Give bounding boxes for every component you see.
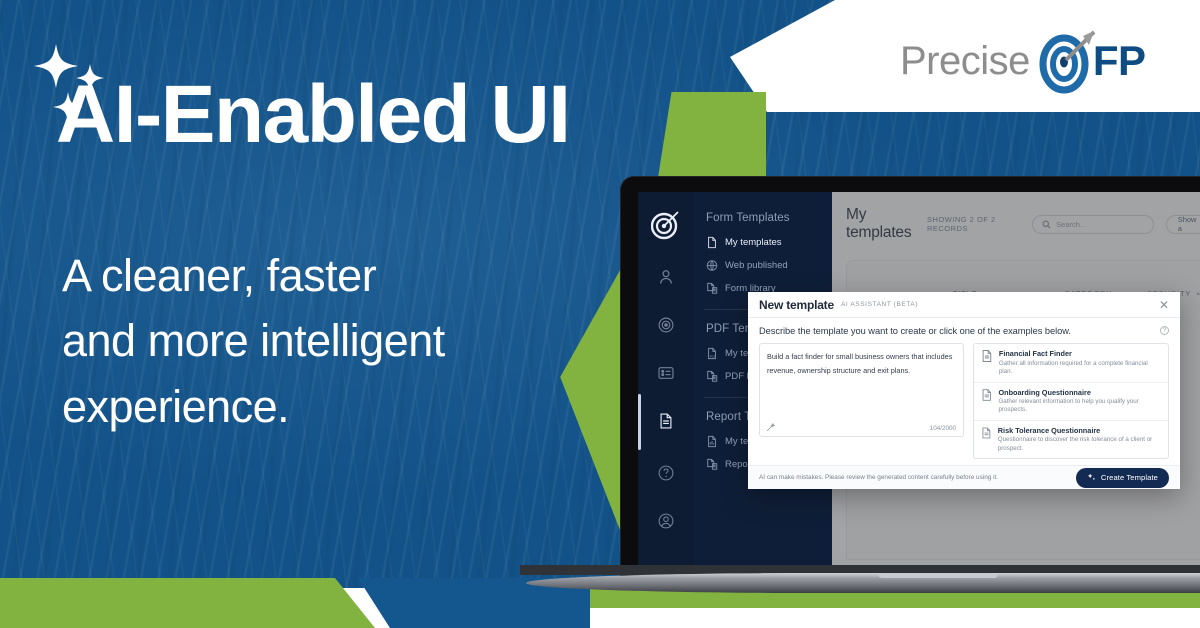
- svg-text:PDF: PDF: [710, 354, 716, 358]
- pdf-stack-icon: [706, 370, 718, 383]
- forms-list-icon[interactable]: [649, 356, 683, 390]
- dialog-columns: Build a fact finder for small business o…: [759, 343, 1169, 459]
- precisefp-logo: Precise FP: [900, 25, 1166, 97]
- account-avatar-icon[interactable]: [649, 504, 683, 538]
- create-template-button[interactable]: Create Template: [1076, 468, 1169, 488]
- help-circle-icon[interactable]: ?: [1160, 326, 1169, 335]
- app-icon-rail: [638, 192, 694, 566]
- logo-text-precise: Precise: [900, 39, 1030, 84]
- nav-group-title-form-templates: Form Templates: [694, 206, 832, 231]
- document-icon: [981, 349, 993, 363]
- sidebar-label: Web published: [725, 260, 788, 271]
- textarea-footer: 104/2000: [766, 423, 956, 432]
- template-description-textarea[interactable]: Build a fact finder for small business o…: [759, 343, 964, 437]
- sidebar-item-web-published[interactable]: Web published: [694, 254, 832, 277]
- dialog-subtitle: AI ASSISTANT (BETA): [841, 301, 918, 308]
- example-description: Questionnaire to discover the risk toler…: [998, 436, 1161, 453]
- icon-rail-bottom: [649, 456, 683, 566]
- example-title: Financial Fact Finder: [999, 349, 1161, 358]
- document-icon: [981, 426, 992, 440]
- subheadline-line-2: and more intelligent: [62, 308, 622, 373]
- promo-subheadline: A cleaner, faster and more intelligent e…: [62, 243, 622, 439]
- report-stack-icon: [706, 458, 718, 471]
- dialog-body: Describe the template you want to create…: [748, 318, 1180, 465]
- textarea-value: Build a fact finder for small business o…: [767, 350, 956, 377]
- example-title: Onboarding Questionnaire: [998, 388, 1161, 397]
- campaigns-target-icon[interactable]: [649, 308, 683, 342]
- dialog-prompt-row: Describe the template you want to create…: [759, 326, 1169, 336]
- bullseye-target-arrow-icon: [1036, 28, 1098, 94]
- ai-disclaimer: AI can make mistakes. Please review the …: [759, 474, 998, 481]
- green-parallelogram-bottom-left: [0, 578, 390, 628]
- example-description: Gather all information required for a co…: [999, 360, 1161, 377]
- pdf-document-icon: PDF: [706, 347, 718, 360]
- magic-wand-icon[interactable]: [766, 423, 775, 432]
- laptop-base: [526, 573, 1200, 593]
- new-template-dialog: New template AI ASSISTANT (BETA) ✕ Descr…: [748, 292, 1180, 489]
- example-title: Risk Tolerance Questionnaire: [998, 426, 1161, 435]
- sidebar-label: My templates: [725, 237, 782, 248]
- contacts-person-icon[interactable]: [649, 260, 683, 294]
- character-count: 104/2000: [930, 425, 956, 432]
- globe-icon: [706, 259, 718, 272]
- report-document-icon: [706, 435, 718, 448]
- logo-text-fp: FP: [1093, 37, 1146, 85]
- sidebar-item-form-my-templates[interactable]: My templates: [694, 231, 832, 254]
- document-icon: [706, 236, 718, 249]
- subheadline-line-3: experience.: [62, 374, 622, 439]
- help-question-icon[interactable]: [649, 456, 683, 490]
- create-template-label: Create Template: [1101, 473, 1158, 482]
- example-description: Gather relevant information to help you …: [998, 398, 1161, 415]
- dialog-title: New template: [759, 298, 834, 312]
- promo-headline: AI-Enabled UI: [56, 74, 570, 156]
- list-item[interactable]: Onboarding Questionnaire Gather relevant…: [974, 383, 1168, 421]
- app-logo-bullseye-icon[interactable]: [651, 210, 681, 240]
- dialog-header: New template AI ASSISTANT (BETA) ✕: [748, 292, 1180, 318]
- dialog-footer: AI can make mistakes. Please review the …: [748, 465, 1180, 489]
- subheadline-line-1: A cleaner, faster: [62, 243, 622, 308]
- document-icon: [981, 388, 992, 402]
- sparkle-icon: [1087, 473, 1096, 482]
- example-templates-list: Financial Fact Finder Gather all informa…: [973, 343, 1169, 459]
- dialog-prompt-label: Describe the template you want to create…: [759, 326, 1071, 336]
- promo-banner: AI-Enabled UI A cleaner, faster and more…: [0, 0, 1200, 628]
- list-item[interactable]: Risk Tolerance Questionnaire Questionnai…: [974, 421, 1168, 458]
- close-icon[interactable]: ✕: [1159, 299, 1169, 311]
- laptop-base-notch: [878, 573, 998, 578]
- list-item[interactable]: Financial Fact Finder Gather all informa…: [974, 344, 1168, 382]
- templates-document-icon[interactable]: [649, 404, 683, 438]
- document-stack-icon: [706, 282, 718, 295]
